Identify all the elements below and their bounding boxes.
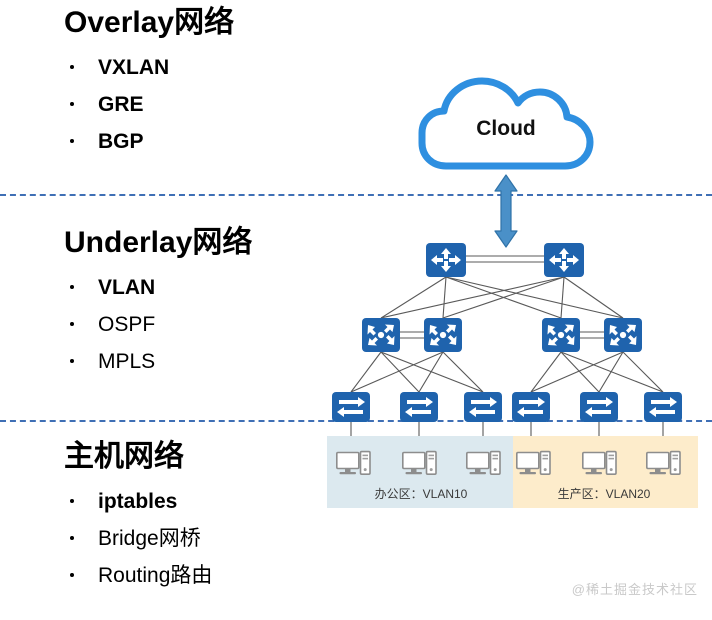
zone-production-label: 生产区：VLAN20: [558, 487, 651, 501]
access-switch-4[interactable]: [512, 392, 550, 422]
router-1[interactable]: [426, 243, 466, 277]
list-item-label: BGP: [98, 130, 144, 153]
bullet-dot-icon: [70, 573, 74, 577]
access-switch-5[interactable]: [580, 392, 618, 422]
bullet-dot-icon: [70, 139, 74, 143]
list-item-label: iptables: [98, 490, 177, 513]
bidirectional-vertical-arrow-icon: [495, 175, 517, 247]
core-switch-1[interactable]: [362, 318, 400, 352]
bullet-dot-icon: [70, 322, 74, 326]
slide-canvas: Overlay网络 VXLAN GRE BGP Underlay网络 VLAN: [0, 0, 712, 620]
bullet-dot-icon: [70, 65, 74, 69]
access-switch-1[interactable]: [332, 392, 370, 422]
topology-links: [351, 277, 663, 455]
list-item-label: GRE: [98, 93, 144, 116]
bullet-dot-icon: [70, 285, 74, 289]
list-item-label: MPLS: [98, 350, 155, 373]
cloud-node: Cloud: [422, 81, 590, 166]
list-item-label: VXLAN: [98, 56, 169, 79]
zone-office: 办公区：VLAN10: [327, 436, 515, 508]
bullet-dot-icon: [70, 102, 74, 106]
list-item: Routing路由: [64, 565, 364, 586]
list-item-label: VLAN: [98, 276, 155, 299]
access-switch-6[interactable]: [644, 392, 682, 422]
core-switch-4[interactable]: [604, 318, 642, 352]
bullet-dot-icon: [70, 536, 74, 540]
access-switch-3[interactable]: [464, 392, 502, 422]
cloud-label: Cloud: [476, 117, 535, 140]
list-item: Bridge网桥: [64, 528, 364, 549]
access-switch-2[interactable]: [400, 392, 438, 422]
core-switch-3[interactable]: [542, 318, 580, 352]
core-switch-2[interactable]: [424, 318, 462, 352]
zone-office-label: 办公区：VLAN10: [375, 486, 468, 501]
list-item-label: Routing路由: [98, 564, 212, 587]
bullet-dot-icon: [70, 359, 74, 363]
watermark: @稀土掘金技术社区: [572, 579, 698, 598]
list-item-label: Bridge网桥: [98, 527, 201, 550]
zone-production: 生产区：VLAN20: [513, 436, 698, 508]
list-item-label: OSPF: [98, 313, 155, 336]
network-topology-diagram: Cloud: [318, 30, 712, 520]
router-2[interactable]: [544, 243, 584, 277]
bullet-dot-icon: [70, 499, 74, 503]
